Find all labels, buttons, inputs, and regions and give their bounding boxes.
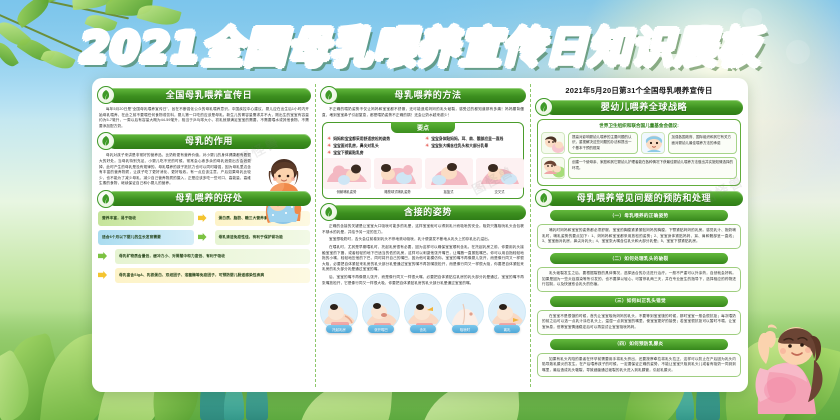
latch-step: 离乳 (488, 293, 526, 333)
qa-subheading-text: （一）母乳喂养的正确姿势 (610, 213, 669, 219)
section-title-text: 含接的姿势 (404, 208, 452, 217)
leaf-seal-icon (97, 86, 115, 104)
who-unicef-title: 世界卫生组织和联合国儿童基金会倡议: (541, 123, 737, 129)
section-header-common-problems: 母乳喂养常见问题的预防和处理 (535, 190, 743, 206)
mother-feeding-icon (541, 157, 565, 179)
latch-paragraph: 宝宝想吸奶时，舌头会往前卷到乳头不停地滚动吸吮，乳汁便激发不断地从乳头上的存乳出… (322, 237, 524, 243)
section-title-text: 母乳喂养的方法 (394, 91, 461, 100)
latch-step-caption: 吸吮时 (452, 325, 478, 333)
section-title-bar: 母乳的作用 (107, 134, 311, 149)
arrow-right-icon (198, 211, 211, 226)
bullet-dot-icon: ✳ (327, 143, 331, 149)
latch-step-caption: 张开嘴巴 (368, 325, 394, 333)
arrow-right-icon (98, 249, 111, 264)
arrow-right-icon (98, 268, 111, 283)
qa-body-box: 哺乳时妈妈和宝宝的姿势都必须舒服，宝宝的胸膛紧紧紧贴妈妈的胸膛，下颚紧贴妈妈的乳… (537, 224, 741, 249)
section-title-bar: 婴幼儿喂养全球战略 (545, 100, 743, 115)
qa-body-text: 在宝宝不是很饿的时候，首先让宝宝吸吮妈妈的乳头，不要等到宝宝饿的时候，那时宝宝一… (542, 314, 736, 331)
bullet-dot-icon: ✳ (425, 136, 429, 142)
page-title: 2021全国母乳喂养宣传日知识展板 (80, 14, 760, 75)
leaf-seal-icon (97, 190, 115, 208)
key-point-text: 妈妈和宝宝都采用舒适放松的姿势 (333, 136, 390, 142)
benefit-full-pill: 母乳矿物质含量低，缓冲力小、对胃酸中和力度低、有利于吸收 (115, 249, 310, 264)
latch-step: 含乳 (404, 293, 442, 333)
section-title-bar: 全国母乳喂养宣传日 (107, 88, 311, 103)
section-title-bar: 母乳喂养的方法 (330, 88, 526, 103)
middle-column: 母乳喂养的方法 不正确的喂奶姿势不仅让妈妈和宝宝都不舒服，还可能造成妈妈的乳头破… (315, 84, 531, 387)
benefit-left-pill: 适合6个月以下婴儿的生长发育需要 (98, 230, 194, 245)
bullet-dot-icon: ✳ (327, 150, 331, 156)
qa-body-box: 乳头破裂发生之后，要根据裂割的具体情况，选择适合的办法进行治疗。一般不严重可以外… (537, 267, 741, 292)
who-unicef-row: 创建一个使母亲、家庭和其它婴幼儿护理者能在各种情况下获最佳婴幼儿喂养方法做出并实… (541, 157, 737, 179)
posture-image (425, 158, 473, 189)
bullet-dot-icon: ✳ (327, 136, 331, 142)
benefit-left-pill: 营养丰富，易于吸收 (98, 211, 194, 226)
benefit-row: 母乳富含SIgA、乳铁蛋白、双歧因子、溶菌酶等免疫因子，可预防婴儿肠道感染性疾病 (98, 268, 310, 283)
who-unicef-text: 加强各国政府、国际组织和其它有关方面对婴幼儿最佳喂养方法的承诺 (668, 132, 738, 154)
key-point-text: 宝宝身体贴妈妈，耳、肩、髋部应呈一直线 (431, 136, 503, 142)
who-unicef-item: 加强各国政府、国际组织和其它有关方面对婴幼儿最佳喂养方法的承诺 (641, 132, 738, 154)
key-point-text: 宝宝面对乳房，鼻尖对乳头 (333, 143, 379, 149)
who-unicef-item (541, 157, 565, 179)
section-title-text: 母乳喂养常见问题的预防和处理 (577, 194, 711, 203)
who-unicef-text: 创建一个使母亲、家庭和其它婴幼儿护理者能在各种情况下获最佳婴幼儿喂养方法做出并实… (568, 157, 737, 179)
section-header-national-day: 全国母乳喂养宣传日 (97, 87, 311, 103)
latch-step-caption: 含乳 (410, 325, 436, 333)
qa-body-text: 如果有乳头内陷的患者在怀孕前需要用手将乳头挤出，还要按摩牵拉将乳头拉正，这样可以… (542, 357, 736, 374)
posture-thumb: 橄榄球式哺乳姿势 (374, 158, 422, 195)
posture-caption: 摇篮式 (425, 190, 473, 195)
section-body-national-day: 每年5月20日是"全国母乳喂养宣传日"，旨在不断强化公众的母乳喂养意识。中国疾控… (99, 107, 309, 129)
posture-image (476, 158, 524, 189)
posture-caption: 侧躺哺乳姿势 (323, 190, 371, 195)
key-point-item: ✳妈妈和宝宝都采用舒适放松的姿势 (327, 136, 421, 142)
section-header-global-strategy: 婴幼儿喂养全球战略 (535, 99, 743, 115)
posture-caption: 交叉式 (476, 190, 524, 195)
key-points-list: ✳妈妈和宝宝都采用舒适放松的姿势 ✳宝宝身体贴妈妈，耳、肩、髋部应呈一直线 ✳宝… (323, 136, 523, 156)
section-header-benefits: 母乳喂养的好处 (97, 191, 311, 207)
section-body-feeding-method: 不正确的喂奶姿势不仅让妈妈和宝宝都不舒服，还可能造成妈妈的乳头破裂，感受过的都知… (322, 107, 524, 118)
qa-subheading: （四）如何预防乳腺炎 (550, 339, 729, 350)
section-title-text: 母乳的作用 (185, 137, 233, 146)
section-header-breastmilk-role: 母乳的作用 (97, 133, 311, 149)
latch-paragraph: 在喂乳时，尤其是早期喂乳时，托起乳房很有必要，因为这样可以确保宝宝顺利含乳。在托… (322, 245, 524, 273)
benefit-row: 适合6个月以下婴儿的生长发育需要 母乳清洁免疫性佳，有利于保护肾功能 (98, 230, 310, 245)
latch-step: 托起乳房 (320, 293, 358, 333)
latch-step: 吸吮时 (446, 293, 484, 333)
qa-body-box: 如果有乳头内陷的患者在怀孕前需要用手将乳头挤出，还要按摩牵拉将乳头拉正，这样可以… (537, 353, 741, 378)
benefit-row: 母乳矿物质含量低，缓冲力小、对胃酸中和力度低、有利于吸收 (98, 249, 310, 264)
qa-subheading-text: （四）如何预防乳腺炎 (615, 341, 664, 347)
key-point-item: ✳宝宝张大嘴含住乳头和大部分乳晕 (425, 143, 519, 149)
baby-face-icon (641, 132, 665, 154)
benefit-right-pill: 蛋白质、脂肪、糖三大营养素比例适当 (215, 211, 311, 226)
section-header-feeding-method: 母乳喂养的方法 (320, 87, 526, 103)
feeding-posture-thumbnails: 侧躺哺乳姿势 橄 (323, 156, 523, 195)
content-board: 全国母乳喂养宣传日 每年5月20日是"全国母乳喂养宣传日"，旨在不断强化公众的母… (92, 78, 748, 392)
qa-subheading: （一）母乳喂养的正确姿势 (550, 210, 729, 221)
key-point-item: ✳宝宝下颌紧贴乳房 (327, 150, 421, 156)
key-point-text: 宝宝张大嘴含住乳头和大部分乳晕 (431, 143, 488, 149)
qa-subheading-text: （三）如何纠正乳头错觉 (612, 298, 666, 304)
key-points-title: 要点 (391, 122, 455, 133)
poster-title-wrap: 2021全国母乳喂养宣传日知识展板 (0, 14, 840, 75)
section-title-bar: 母乳喂养常见问题的预防和处理 (545, 191, 743, 206)
arrow-right-icon (198, 230, 211, 245)
left-column: 全国母乳喂养宣传日 每年5月20日是"全国母乳喂养宣传日"，旨在不断强化公众的母… (97, 84, 311, 387)
poster-canvas: 2021全国母乳喂养宣传日知识展板 图怪兽 图怪兽 图怪兽 全国母乳喂养宣传日 … (0, 0, 840, 420)
section-title-bar: 含接的姿势 (330, 205, 526, 220)
promotion-date-line: 2021年5月20日第31个全国母乳喂养宣传日 (535, 85, 743, 96)
qa-subheading-text: （二）如何处理乳头的破裂 (610, 256, 669, 262)
who-unicef-item: 提高对影响婴幼儿喂养的主要问题的认识，重视解决这些问题的办法和提出一个基本干预的… (541, 132, 638, 154)
right-column: 2021年5月20日第31个全国母乳喂养宣传日 婴幼儿喂养全球战略 世界卫生组织… (535, 84, 743, 387)
posture-caption: 橄榄球式哺乳姿势 (374, 190, 422, 195)
section-body-breastmilk-role: 母乳对孩子来讲是非常好的营养品，比奶粉更有营养价值，对小婴儿的身体健康都有着很大… (99, 153, 309, 187)
benefit-row: 营养丰富，易于吸收 蛋白质、脂肪、糖三大营养素比例适当 (98, 211, 310, 226)
posture-thumb: 侧躺哺乳姿势 (323, 158, 371, 195)
key-point-item: ✳宝宝面对乳房，鼻尖对乳头 (327, 143, 421, 149)
who-unicef-box: 世界卫生组织和联合国儿童基金会倡议: (537, 119, 741, 186)
bullet-dot-icon: ✳ (425, 143, 429, 149)
benefit-full-pill: 母乳富含SIgA、乳铁蛋白、双歧因子、溶菌酶等免疫因子，可预防婴儿肠道感染性疾病 (115, 268, 310, 283)
baby-feeding-icon (541, 132, 565, 154)
posture-image (374, 158, 422, 189)
latch-step-caption: 离乳 (494, 325, 520, 333)
posture-image (323, 158, 371, 189)
latch-step-thumbnails: 托起乳房 张开嘴巴 (320, 290, 526, 333)
posture-thumb: 摇篮式 (425, 158, 473, 195)
latch-paragraph: 正确的含接的关键是让宝宝大口吸吮可能多的乳晕，这样宝宝就可以得到乳汁而吸吮的安全… (322, 224, 524, 235)
qa-body-text: 乳头破裂发生之后，要根据裂割的具体情况，选择适合的办法进行治疗。一般不严重可以外… (542, 271, 736, 288)
leaf-seal-icon (535, 98, 553, 116)
leaf-seal-icon (320, 86, 338, 104)
section-title-bar: 母乳喂养的好处 (107, 191, 311, 206)
section-title-text: 全国母乳喂养宣传日 (166, 91, 252, 100)
key-point-item: ✳宝宝身体贴妈妈，耳、肩、髋部应呈一直线 (425, 136, 519, 142)
qa-body-text: 哺乳时妈妈和宝宝的姿势都必须舒服，宝宝的胸膛紧紧紧贴妈妈的胸膛，下颚紧贴妈妈的乳… (542, 228, 736, 245)
section-title-text: 婴幼儿喂养全球战略 (601, 103, 687, 112)
qa-subheading: （二）如何处理乳头的破裂 (550, 253, 729, 264)
latch-step-caption: 托起乳房 (326, 325, 352, 333)
who-unicef-row: 提高对影响婴幼儿喂养的主要问题的认识，重视解决这些问题的办法和提出一个基本干预的… (541, 132, 737, 154)
latch-step: 张开嘴巴 (362, 293, 400, 333)
benefits-list: 营养丰富，易于吸收 蛋白质、脂肪、糖三大营养素比例适当 适合6个月以下婴儿的生长… (98, 211, 310, 283)
section-header-latch-posture: 含接的姿势 (320, 204, 526, 220)
posture-thumb: 交叉式 (476, 158, 524, 195)
section-title-text: 母乳喂养的好处 (175, 194, 242, 203)
latch-paragraph: 后，宝宝的嘴不再像婴儿张开，而是像行同又一样很大嘴，必要把自体紧贴住乳房的乳头部… (322, 275, 524, 286)
key-point-text: 宝宝下颌紧贴乳房 (333, 150, 363, 156)
benefit-right-pill: 母乳清洁免疫性佳，有利于保护肾功能 (215, 230, 311, 245)
who-unicef-text: 提高对影响婴幼儿喂养的主要问题的认识，重视解决这些问题的办法和提出一个基本干预的… (568, 132, 638, 154)
qa-subheading: （三）如何纠正乳头错觉 (550, 296, 729, 307)
key-points-box: 要点 ✳妈妈和宝宝都采用舒适放松的姿势 ✳宝宝身体贴妈妈，耳、肩、髋部应呈一直线… (322, 122, 524, 199)
qa-body-box: 在宝宝不是很饿的时候，首先让宝宝吸吮妈妈的乳头，不要等到宝宝饿的时候，那时宝宝一… (537, 310, 741, 335)
